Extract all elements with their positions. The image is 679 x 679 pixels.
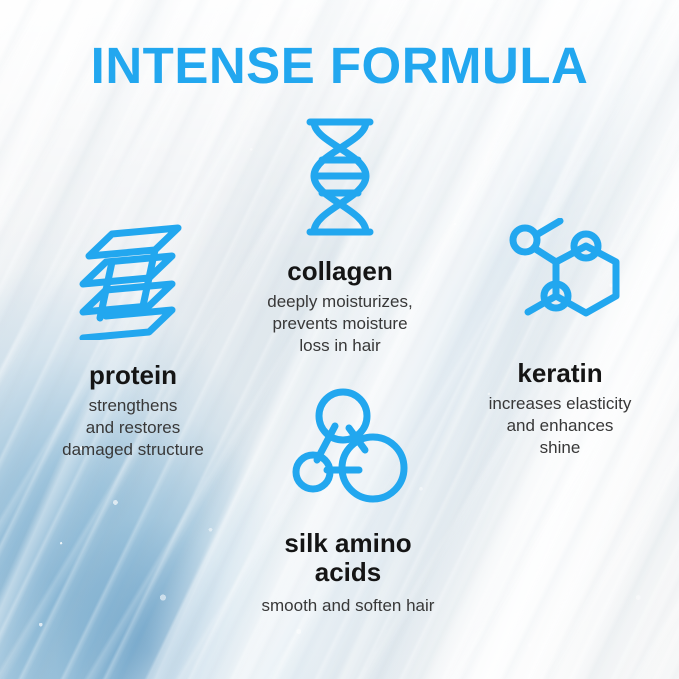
feature-keratin: keratin increases elasticity and enhance… — [450, 218, 670, 458]
dna-helix-icon — [240, 118, 440, 247]
feature-description: increases elasticity and enhances shine — [450, 393, 670, 458]
protein-helix-icon — [18, 222, 248, 345]
feature-description: smooth and soften hair — [228, 595, 468, 617]
feature-title: collagen — [240, 257, 440, 286]
feature-title: protein — [18, 361, 248, 390]
poster-title: INTENSE FORMULA — [0, 40, 679, 91]
feature-collagen: collagen deeply moisturizes, prevents mo… — [240, 118, 440, 356]
feature-description: strengthens and restores damaged structu… — [18, 395, 248, 460]
feature-title: keratin — [450, 359, 670, 388]
feature-silk-amino-acids: silk amino acids smooth and soften hair — [228, 388, 468, 617]
feature-description: deeply moisturizes, prevents moisture lo… — [240, 291, 440, 356]
molecule-spheres-icon — [228, 388, 468, 515]
feature-title: silk amino acids — [228, 529, 468, 587]
feature-protein: protein strengthens and restores damaged… — [18, 222, 248, 460]
molecule-hexagon-icon — [450, 218, 670, 345]
intense-formula-poster: INTENSE FORMULA protein strengthens and … — [0, 0, 679, 679]
